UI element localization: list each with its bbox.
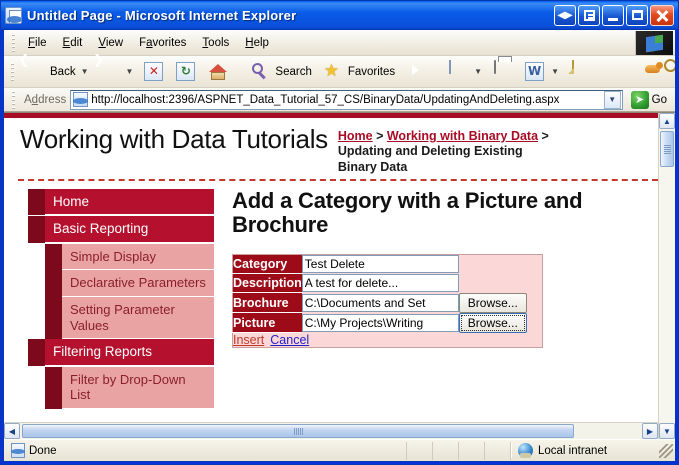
split-button[interactable]: ◀▶ [554,5,576,26]
messenger-button[interactable] [606,59,638,85]
minimize-icon [608,18,618,21]
h-scroll-track[interactable] [20,423,642,439]
v-scroll-thumb[interactable] [660,131,674,167]
picture-file-input[interactable] [302,314,459,332]
row-value-picture [302,313,459,333]
row-label-brochure: Brochure [233,293,302,313]
maximize-icon [632,10,643,20]
breadcrumb-current: Updating and Deleting Existing Binary Da… [338,144,523,173]
mail-button[interactable]: ▼ [442,59,487,85]
address-bar: Address http://localhost:2396/ASPNET_Dat… [4,88,675,112]
favorites-button[interactable]: ★ Favorites [317,59,400,85]
sidebar-item-label: Basic Reporting [45,216,214,243]
picture-browse-button[interactable]: Browse... [459,313,527,333]
client-area: File Edit View Favorites Tools Help ❮ Ba… [3,29,676,462]
sidebar-item-label: Home [45,189,214,216]
description-input[interactable] [302,274,459,292]
brochure-file-input[interactable] [302,294,459,312]
page-title: Working with Data Tutorials [20,123,328,154]
intranet-zone-icon [518,443,533,458]
table-row: Picture Browse... [233,313,543,333]
search-button[interactable]: Search [244,59,316,85]
go-icon: ➤ [631,91,649,109]
sidebar-item-filter-by-drop-down-list[interactable]: Filter by Drop-Down List [28,367,214,409]
research-icon [675,61,676,83]
sidebar-item-label: Declarative Parameters [62,270,214,297]
forward-icon: ❯ [99,61,121,83]
status-segment-2 [433,442,459,460]
row-value-description [302,274,459,293]
restore-group-icon [584,10,595,21]
breadcrumb-sep-2: > [538,129,549,143]
resize-grip[interactable] [659,444,673,458]
page-area: Working with Data Tutorials Home > Worki… [4,113,658,439]
sidebar-item-label: Filter by Drop-Down List [62,367,214,409]
row-browse-picture: Browse... [459,313,543,333]
row-label-category: Category [233,255,302,274]
media-icon [405,61,427,83]
sidebar-item-setting-parameter-values[interactable]: Setting Parameter Values [28,297,214,339]
back-dropdown-icon[interactable]: ▼ [81,67,89,76]
sidebar-item-simple-display[interactable]: Simple Display [28,244,214,271]
forward-button[interactable]: ❯ ▼ [94,59,139,85]
title-bar: Untitled Page - Microsoft Internet Explo… [1,1,678,29]
sidebar-item-home[interactable]: Home [28,189,214,216]
print-icon [492,61,514,83]
row-label-description: Description [233,274,302,293]
menu-help[interactable]: Help [237,34,277,52]
scroll-down-button[interactable]: ▼ [659,423,675,439]
split-icon: ◀▶ [555,6,575,25]
breadcrumb: Home > Working with Binary Data > Updati… [338,123,553,175]
sidebar-item-label: Simple Display [62,244,214,271]
stop-icon: ✕ [143,61,165,83]
brochure-browse-button[interactable]: Browse... [459,293,527,313]
notes-icon [569,61,591,83]
address-gripper[interactable] [10,91,17,109]
category-input[interactable] [302,255,459,273]
back-icon: ❮ [24,61,46,83]
nav-accent-bar [28,339,45,366]
scroll-left-button[interactable]: ◀ [4,423,20,439]
mail-icon [447,61,469,83]
v-thumb-grip-icon [664,145,671,154]
menu-gripper[interactable] [10,34,17,52]
main-content: Add a Category with a Picture and Brochu… [214,189,658,409]
status-segment-1 [407,442,433,460]
form-commands: InsertCancel [233,333,543,348]
web-page: Working with Data Tutorials Home > Worki… [4,113,658,422]
stop-button[interactable]: ✕ [138,59,170,85]
v-scroll-track[interactable] [659,129,675,423]
menu-view[interactable]: View [90,34,131,52]
menu-edit[interactable]: Edit [55,34,91,52]
row-value-category [302,255,459,274]
edit-dropdown-icon[interactable]: ▼ [551,67,559,76]
address-input[interactable]: http://localhost:2396/ASPNET_Data_Tutori… [70,90,622,110]
refresh-button[interactable]: ↻ [170,59,202,85]
table-row: Brochure Browse... [233,293,543,313]
address-dropdown-icon[interactable]: ▼ [604,91,621,109]
nav-accent-bar [28,189,45,216]
sidebar-nav: Home Basic Reporting Simple Display [18,189,214,409]
sidebar-item-label: Setting Parameter Values [62,297,214,339]
mail-dropdown-icon[interactable]: ▼ [474,67,482,76]
messenger-globe-icon [611,61,633,83]
sidebar-item-declarative-parameters[interactable]: Declarative Parameters [28,270,214,297]
menu-tools[interactable]: Tools [194,34,237,52]
table-row: Category [233,255,543,274]
edit-button[interactable]: W ▼ [519,59,564,85]
address-url-text: http://localhost:2396/ASPNET_Data_Tutori… [91,94,600,106]
edit-word-icon: W [524,61,546,83]
page-body: Home Basic Reporting Simple Display [18,181,658,409]
status-segment-4 [485,442,511,460]
app-icon [5,7,22,24]
row-pad-description [459,274,543,293]
refresh-icon: ↻ [175,61,197,83]
page-icon [73,92,88,107]
status-bar: Done Local intranet [4,439,675,461]
status-text: Done [29,445,57,457]
menu-file[interactable]: File [20,34,55,52]
address-label: Address [24,94,66,106]
toolbar-gripper[interactable] [9,63,16,81]
nav-accent-bar [28,216,45,243]
ie-brand-logo [635,31,673,55]
research-button[interactable] [670,59,676,85]
h-scroll-thumb[interactable] [22,424,574,438]
sidebar-item-label: Filtering Reports [45,339,214,366]
notes-button[interactable] [564,59,596,85]
restore-group-button[interactable] [578,5,600,26]
breadcrumb-home[interactable]: Home [338,129,373,143]
row-label-picture: Picture [233,313,302,333]
go-label: Go [652,94,667,106]
nav-accent-bar [45,270,62,297]
favorites-label: Favorites [348,66,395,78]
table-row: Description [233,274,543,293]
window-title: Untitled Page - Microsoft Internet Explo… [27,8,554,23]
security-zone-pane[interactable]: Local intranet [511,443,659,458]
h-thumb-grip-icon [294,428,303,435]
windows-flag-icon [646,34,663,51]
status-message-pane: Done [6,442,407,460]
cancel-link[interactable]: Cancel [270,333,309,347]
browser-viewport: Working with Data Tutorials Home > Worki… [4,112,675,439]
horizontal-scrollbar[interactable]: ◀ ▶ [4,422,658,439]
insert-form-table: Category Description [232,254,543,348]
scroll-up-button[interactable]: ▲ [659,113,675,129]
breadcrumb-section[interactable]: Working with Binary Data [387,129,538,143]
nav-accent-bar [45,244,62,271]
row-browse-brochure: Browse... [459,293,543,313]
home-icon [207,61,229,83]
scroll-right-button[interactable]: ▶ [642,423,658,439]
window-controls: ◀▶ [554,5,676,26]
menu-bar: File Edit View Favorites Tools Help [4,30,675,56]
content-heading: Add a Category with a Picture and Brochu… [232,189,650,238]
toolbar: ❮ Back ▼ ❯ ▼ ✕ ↻ [4,56,675,88]
print-button[interactable] [487,59,519,85]
table-row: InsertCancel [233,333,543,348]
media-button[interactable] [400,59,432,85]
status-page-icon [11,443,25,458]
back-button[interactable]: ❮ Back ▼ [19,59,94,85]
browser-window: Untitled Page - Microsoft Internet Explo… [0,0,679,465]
row-value-brochure [302,293,459,313]
status-zone-text: Local intranet [538,445,607,457]
status-segment-3 [459,442,485,460]
home-button[interactable] [202,59,234,85]
back-label: Back [50,66,76,78]
page-masthead: Working with Data Tutorials Home > Worki… [18,118,658,181]
insert-link[interactable]: Insert [233,333,264,347]
close-button[interactable] [650,5,674,26]
sidebar-item-filtering-reports[interactable]: Filtering Reports [28,339,214,366]
msn-icon [643,61,665,83]
maximize-button[interactable] [626,5,648,26]
sidebar-item-basic-reporting[interactable]: Basic Reporting [28,216,214,243]
row-pad-category [459,255,543,274]
nav-accent-bar [45,367,62,409]
nav-accent-bar [45,297,62,339]
vertical-scrollbar[interactable]: ▲ ▼ [658,113,675,439]
forward-dropdown-icon[interactable]: ▼ [126,67,134,76]
search-label: Search [275,66,311,78]
search-icon [249,61,271,83]
minimize-button[interactable] [602,5,624,26]
go-button[interactable]: ➤ Go [627,91,671,109]
favorites-icon: ★ [322,61,344,83]
menu-favorites[interactable]: Favorites [131,34,194,52]
breadcrumb-sep-1: > [373,129,387,143]
